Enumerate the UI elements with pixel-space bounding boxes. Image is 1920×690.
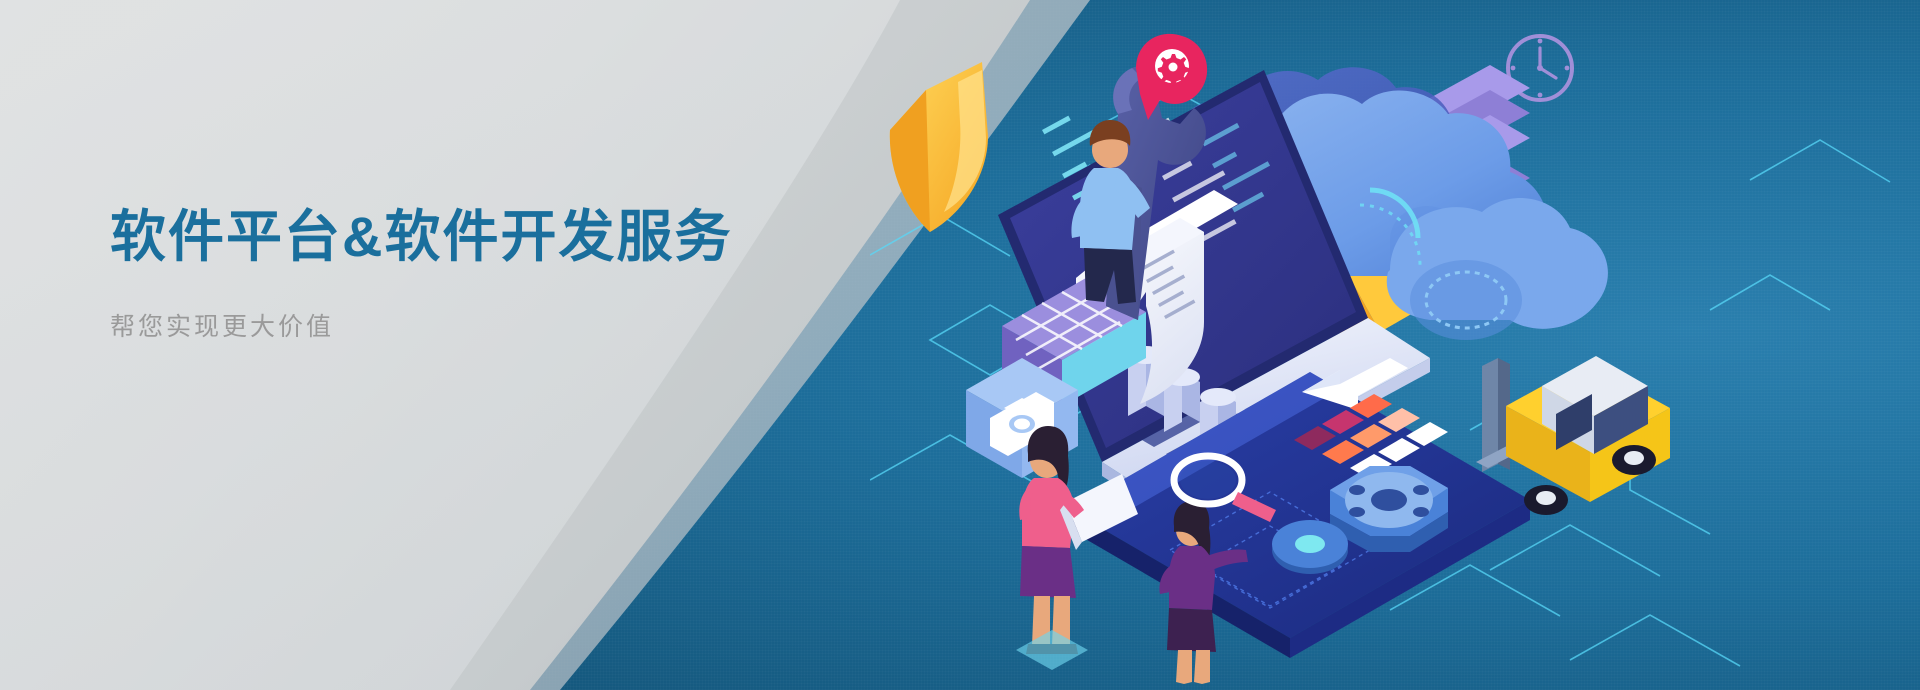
banner-text-block: 软件平台&软件开发服务 帮您实现更大价值	[110, 205, 870, 344]
page-subtitle: 帮您实现更大价值	[110, 311, 870, 344]
page-title: 软件平台&软件开发服务	[110, 205, 870, 269]
hero-illustration	[870, 10, 1920, 690]
shield-icon	[890, 62, 988, 232]
hero-banner: 软件平台&软件开发服务 帮您实现更大价值	[0, 0, 1920, 690]
